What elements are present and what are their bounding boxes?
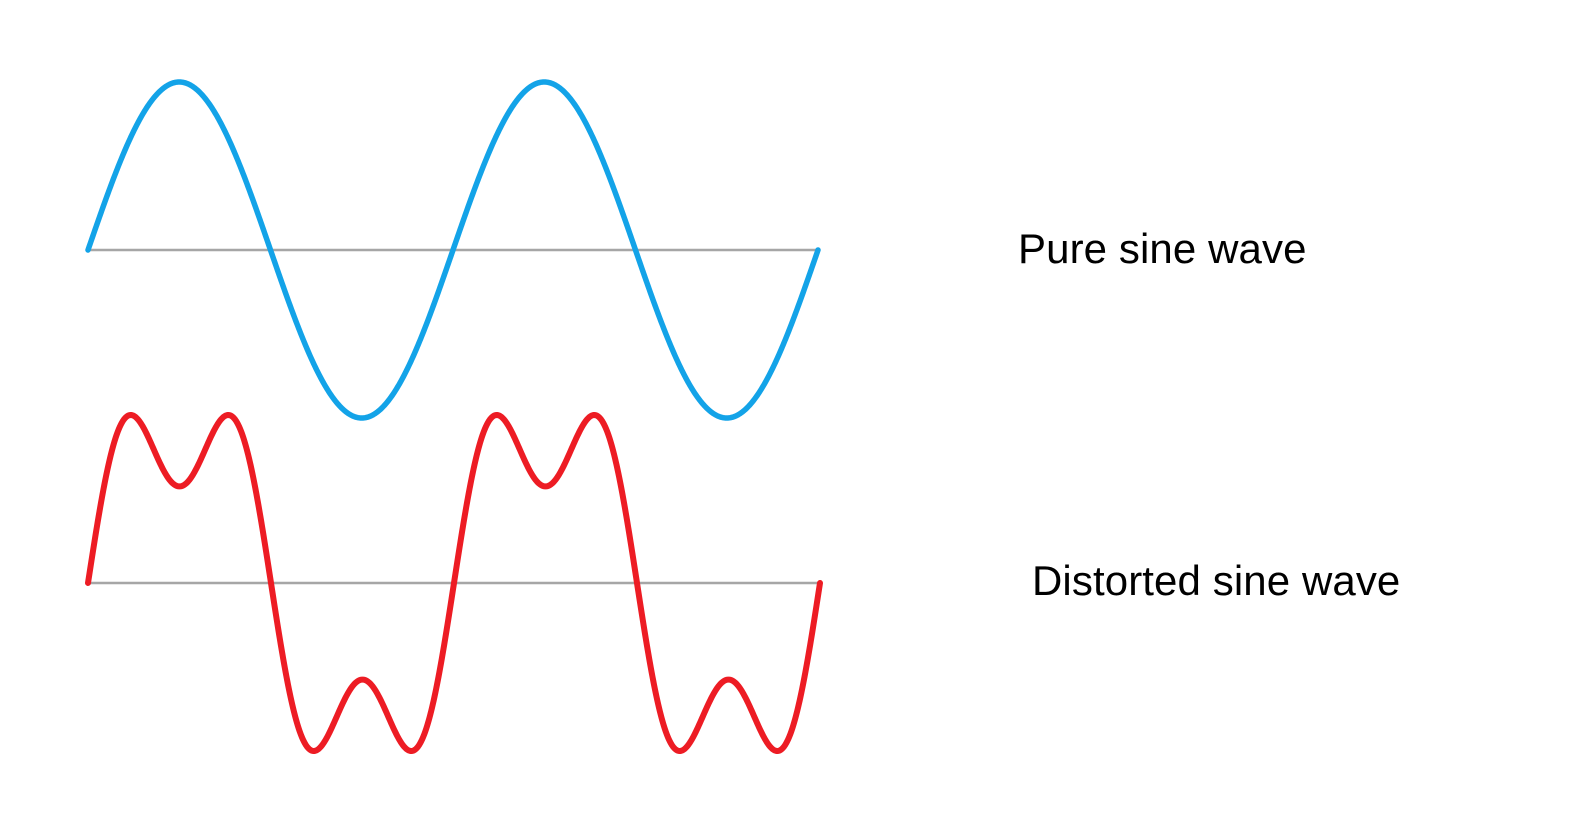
waveform-canvas <box>0 0 1585 834</box>
waveform-figure: Pure sine wave Distorted sine wave <box>0 0 1585 834</box>
distorted-sine-wave-label: Distorted sine wave <box>1032 560 1400 602</box>
pure-sine-wave-label: Pure sine wave <box>1018 228 1307 270</box>
